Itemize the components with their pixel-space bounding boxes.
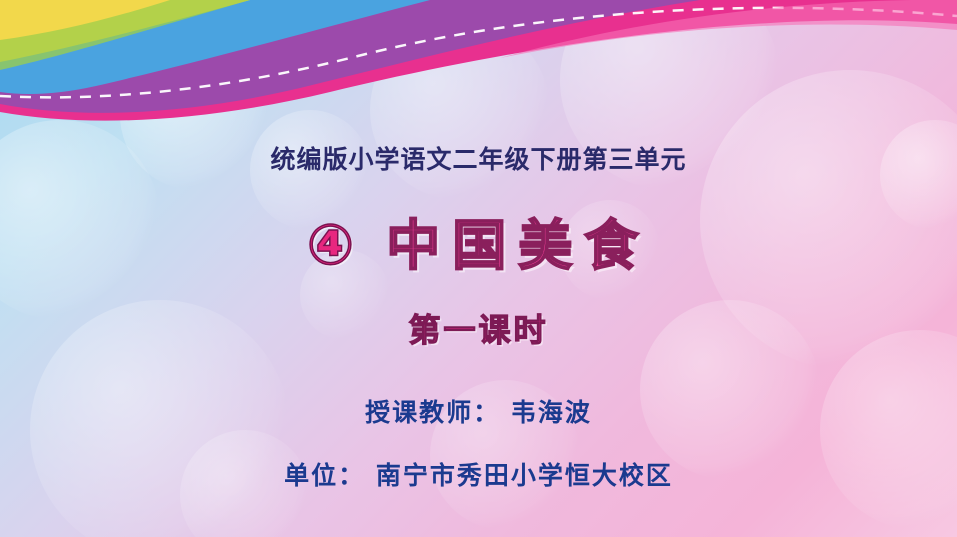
- subject-line: 统编版小学语文二年级下册第三单元: [0, 140, 957, 176]
- teacher-line: 授课教师： 韦海波: [0, 393, 957, 429]
- slide-content: 统编版小学语文二年级下册第三单元 ④ 中国美食 第一课时 授课教师： 韦海波 单…: [0, 0, 957, 537]
- page-title: 中国美食: [368, 219, 650, 273]
- unit-line: 单位： 南宁市秀田小学恒大校区: [0, 456, 957, 492]
- lesson-number: ④: [307, 218, 354, 274]
- period-label: 第一课时: [0, 305, 957, 351]
- title-row: ④ 中国美食: [0, 218, 957, 274]
- presentation-slide: 统编版小学语文二年级下册第三单元 ④ 中国美食 第一课时 授课教师： 韦海波 单…: [0, 0, 957, 537]
